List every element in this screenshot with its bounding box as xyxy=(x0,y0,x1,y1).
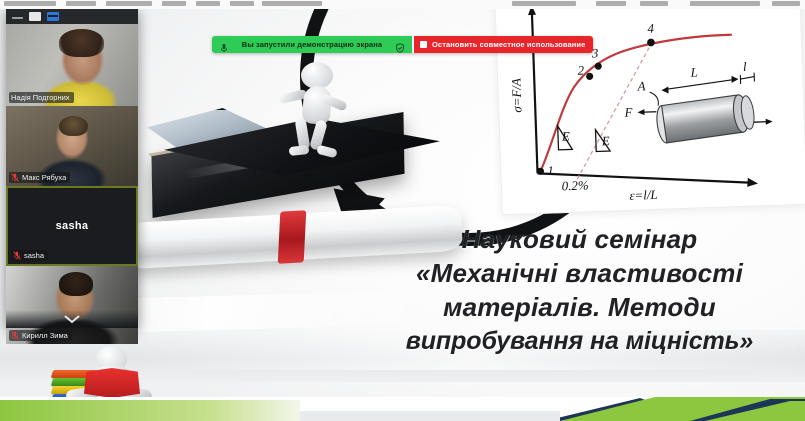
screenshot-stage: 1 2 3 4 E E σ=F/A ε=l/L 0.2% xyxy=(0,0,805,421)
browser-chrome-strip[interactable] xyxy=(0,0,805,9)
diploma-ribbon xyxy=(278,210,307,264)
video-panel-titlebar[interactable] xyxy=(6,8,138,24)
svg-text:F: F xyxy=(623,106,632,120)
chrome-chip xyxy=(596,1,626,6)
title-line-3: матеріалів. Методи xyxy=(352,290,805,324)
3d-figure-running xyxy=(281,62,353,154)
stop-sharing-label: Остановить совместное использование xyxy=(432,40,585,49)
minimize-icon[interactable] xyxy=(12,13,23,19)
view-layout-icon[interactable] xyxy=(47,12,59,21)
mic-muted-icon xyxy=(13,251,21,260)
participant-nametag: Надія Подгорних xyxy=(9,92,74,103)
participant-nametag: sasha xyxy=(11,250,48,261)
chrome-chip xyxy=(66,1,96,6)
open-book-red xyxy=(84,368,140,398)
chevron-down-icon xyxy=(64,315,80,324)
svg-text:ε=l/L: ε=l/L xyxy=(629,188,658,203)
participant-nametag: Макс Рябуха xyxy=(9,172,70,183)
book-page-left xyxy=(84,368,112,398)
stop-sharing-button[interactable]: Остановить совместное использование xyxy=(412,36,593,53)
microphone-icon[interactable] xyxy=(219,40,229,50)
participant-tiles: Надія Подгорних Макс Рябуха xyxy=(6,24,138,328)
svg-text:σ=F/A: σ=F/A xyxy=(509,78,524,113)
svg-text:0.2%: 0.2% xyxy=(562,178,589,193)
chrome-chip xyxy=(512,1,576,6)
chrome-chip xyxy=(690,1,760,6)
chrome-chip xyxy=(262,1,322,6)
chrome-chip xyxy=(106,1,152,6)
participant-tile-1[interactable]: Надія Подгорних xyxy=(6,24,138,106)
svg-text:E: E xyxy=(561,130,570,144)
participant-tile-3[interactable]: sasha sasha xyxy=(6,186,138,266)
title-line-4: випробування на міцність» xyxy=(352,324,805,358)
stop-square-icon xyxy=(420,41,427,48)
stress-strain-chart: 1 2 3 4 E E σ=F/A ε=l/L 0.2% xyxy=(494,0,805,215)
svg-text:l: l xyxy=(743,60,747,74)
expand-participants-button[interactable] xyxy=(6,310,138,328)
svg-text:L: L xyxy=(689,66,698,80)
book-page-right xyxy=(112,368,140,398)
share-status-chip[interactable]: Вы запустили демонстрацию экрана xyxy=(212,36,412,53)
participant-tile-4[interactable]: Кирилл Зима xyxy=(6,266,138,344)
participant-name: sasha xyxy=(24,251,44,260)
shield-icon[interactable] xyxy=(395,40,405,50)
chrome-chip xyxy=(772,1,800,6)
participant-video-panel[interactable]: Надія Подгорних Макс Рябуха xyxy=(6,8,138,328)
svg-text:2: 2 xyxy=(577,64,584,78)
svg-text:E: E xyxy=(601,134,610,148)
slide-title: Науковий семінар «Механічні властивості … xyxy=(352,222,805,358)
restore-window-icon[interactable] xyxy=(29,12,41,21)
participant-nametag: Кирилл Зима xyxy=(9,330,72,341)
chrome-chip xyxy=(162,1,186,6)
participant-tile-2[interactable]: Макс Рябуха xyxy=(6,106,138,186)
participant-name: Кирилл Зима xyxy=(22,331,68,340)
chrome-chip xyxy=(230,1,254,6)
svg-text:A: A xyxy=(636,79,645,93)
mic-muted-icon xyxy=(11,173,19,182)
participant-name: Надія Подгорних xyxy=(11,93,70,102)
chrome-chip xyxy=(4,1,56,6)
chrome-chip xyxy=(640,1,668,6)
participant-name: Макс Рябуха xyxy=(22,173,66,182)
mic-muted-icon xyxy=(11,331,19,340)
svg-text:1: 1 xyxy=(547,164,554,178)
svg-text:4: 4 xyxy=(647,21,654,35)
chrome-chip xyxy=(196,1,220,6)
green-chevron-band xyxy=(0,397,805,421)
share-status-text: Вы запустили демонстрацию экрана xyxy=(235,40,389,49)
screen-share-bar[interactable]: Вы запустили демонстрацию экрана Останов… xyxy=(212,36,593,53)
title-line-2: «Механічні властивості xyxy=(352,256,805,290)
title-line-1: Науковий семінар xyxy=(352,222,805,256)
